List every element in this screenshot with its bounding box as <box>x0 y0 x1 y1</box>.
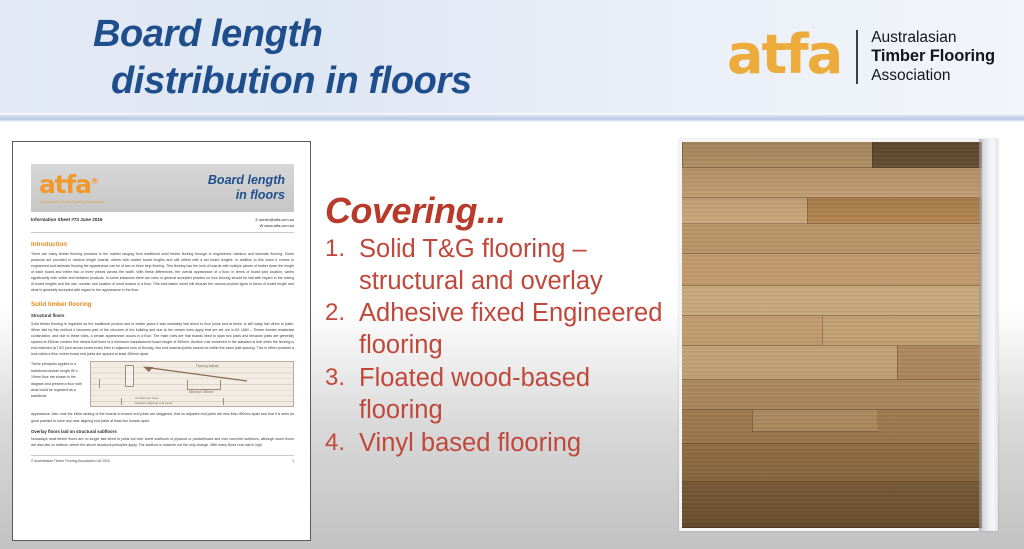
list-item-number: 3. <box>325 363 359 393</box>
diagram-board-outline-a <box>125 365 134 387</box>
doc-subheading-structural: Structural floors <box>31 313 294 318</box>
logo-divider <box>856 30 858 84</box>
floor-board-segment <box>752 410 877 432</box>
doc-atfa-logo: atfa® Australasian Timber Flooring Assoc… <box>39 172 105 204</box>
information-sheet-page: atfa® Australasian Timber Flooring Assoc… <box>13 142 311 541</box>
doc-appearance-paragraph: appearance. Also note the initial rackin… <box>31 411 294 423</box>
doc-contact-block: E admin@atfa.com.au W www.atfa.com.au <box>255 217 294 229</box>
list-item-label: Floated wood-based flooring <box>359 363 665 427</box>
wood-grain-texture <box>683 142 872 167</box>
page-title-line-1: Board length <box>93 11 693 58</box>
list-item: 3. Floated wood-based flooring <box>325 363 665 427</box>
floor-board <box>682 286 982 316</box>
floor-board-segment <box>807 198 982 224</box>
doc-atfa-text: atfa <box>39 170 91 199</box>
slide-header: Board length distribution in floors atfa… <box>0 0 1024 113</box>
floor-board-segment <box>822 316 982 346</box>
atfa-logo-line-1: Australasian <box>871 29 995 47</box>
covering-section: Covering... 1. Solid T&G flooring – stru… <box>325 193 665 461</box>
header-divider-rule <box>0 113 1024 122</box>
doc-contact-email: E admin@atfa.com.au <box>255 217 294 223</box>
doc-banner-title-line-2: in floors <box>208 188 285 203</box>
diagram-label-bottom: At least two rows between aligning end j… <box>135 396 172 405</box>
doc-atfa-wordmark: atfa® <box>39 172 105 197</box>
floor-board-segment <box>897 346 982 380</box>
page-title-line-2: distribution in floors <box>93 58 693 105</box>
wood-grain-texture <box>898 346 982 379</box>
diagram-label-bottom-2: between aligning end joints <box>135 401 172 406</box>
wood-grain-texture <box>823 316 982 345</box>
doc-subheading-overlay: Overlay floors laid on structural subflo… <box>31 429 294 434</box>
floor-board <box>682 380 982 410</box>
wood-grain-texture <box>682 254 982 285</box>
atfa-logo-line-2: Timber Flooring <box>871 47 995 67</box>
floor-board <box>682 168 982 198</box>
list-item-number: 4. <box>325 428 359 458</box>
doc-flooring-diagram: Flooring 'ballast' Minimum 450mm At leas… <box>90 361 294 407</box>
atfa-logo-line-3: Association <box>871 67 995 85</box>
floor-board <box>682 224 982 254</box>
doc-diagram-row: These principles applied to a traditiona… <box>31 361 294 407</box>
diagram-label-top: Flooring 'ballast' <box>196 364 219 368</box>
wood-grain-texture <box>682 286 982 315</box>
list-item: 2. Adhesive fixed Engineered flooring <box>325 298 665 362</box>
doc-contact-web: W www.atfa.com.au <box>255 223 294 229</box>
doc-footer-copyright: © Australasian Timber Flooring Associati… <box>31 459 110 463</box>
slide-root: Board length distribution in floors atfa… <box>0 0 1024 549</box>
doc-sheet-reference: Information Sheet #73 June 2016 <box>31 217 102 222</box>
atfa-wordmark: atfa <box>727 28 841 82</box>
floor-board <box>682 444 982 482</box>
wood-grain-texture <box>808 198 982 223</box>
doc-footer: © Australasian Timber Flooring Associati… <box>31 455 294 463</box>
doc-footer-page-number: 1 <box>292 459 294 463</box>
registered-icon: ® <box>91 177 98 186</box>
doc-structural-paragraph: Solid timber flooring is regarded as the… <box>31 321 294 358</box>
wood-grain-texture <box>682 224 982 253</box>
photo-bottom-shadow <box>682 518 982 528</box>
doc-diagram-caption-column: These principles applied to a traditiona… <box>31 361 85 407</box>
diagram-label-mid: Minimum 450mm <box>189 390 213 394</box>
diagram-arrow-icon <box>143 366 248 382</box>
list-item-number: 2. <box>325 298 359 328</box>
floor-board <box>682 254 982 286</box>
wall-skirting-strip <box>982 139 998 531</box>
list-item-number: 1. <box>325 234 359 264</box>
list-item: 1. Solid T&G flooring – structural and o… <box>325 234 665 298</box>
wood-grain-texture <box>873 142 982 167</box>
wood-grain-texture <box>682 380 982 409</box>
doc-header-band: atfa® Australasian Timber Flooring Assoc… <box>31 164 294 212</box>
timber-floor-photo <box>682 142 982 528</box>
floor-board-segment <box>872 142 982 168</box>
information-sheet-thumbnail[interactable]: atfa® Australasian Timber Flooring Assoc… <box>12 141 311 541</box>
covering-title: Covering... <box>325 193 665 230</box>
wood-grain-texture <box>753 410 877 431</box>
diagram-tick-bottom-1 <box>121 398 122 405</box>
doc-diagram-caption: These principles applied to a traditiona… <box>31 361 85 399</box>
doc-heading-solid-timber: Solid timber flooring <box>31 301 294 308</box>
timber-floor-photo-frame <box>679 139 998 531</box>
doc-atfa-subtext: Australasian Timber Flooring Association <box>39 200 105 204</box>
doc-banner-title-line-1: Board length <box>208 173 285 188</box>
wood-grain-texture <box>682 168 982 197</box>
list-item: 4. Vinyl based flooring <box>325 428 665 460</box>
wood-grain-texture <box>682 444 982 481</box>
diagram-tick-bottom-2 <box>223 398 224 405</box>
doc-overlay-paragraph: Nowadays most timber floors are no longe… <box>31 436 294 448</box>
doc-meta-row: Information Sheet #73 June 2016 E admin@… <box>31 217 294 233</box>
floor-board-segment <box>682 142 872 168</box>
covering-list: 1. Solid T&G flooring – structural and o… <box>325 234 665 460</box>
atfa-logo-text: Australasian Timber Flooring Association <box>871 29 995 86</box>
doc-heading-introduction: Introduction <box>31 241 294 248</box>
page-title: Board length distribution in floors <box>93 11 693 104</box>
doc-banner-title: Board length in floors <box>208 173 285 203</box>
list-item-label: Solid T&G flooring – structural and over… <box>359 234 665 298</box>
doc-intro-paragraph: There are many timber flooring products … <box>31 251 294 294</box>
diagram-tick-left <box>99 379 100 388</box>
list-item-label: Vinyl based flooring <box>359 428 665 460</box>
atfa-logo: atfa Australasian Timber Flooring Associ… <box>727 24 995 90</box>
list-item-label: Adhesive fixed Engineered flooring <box>359 298 665 362</box>
